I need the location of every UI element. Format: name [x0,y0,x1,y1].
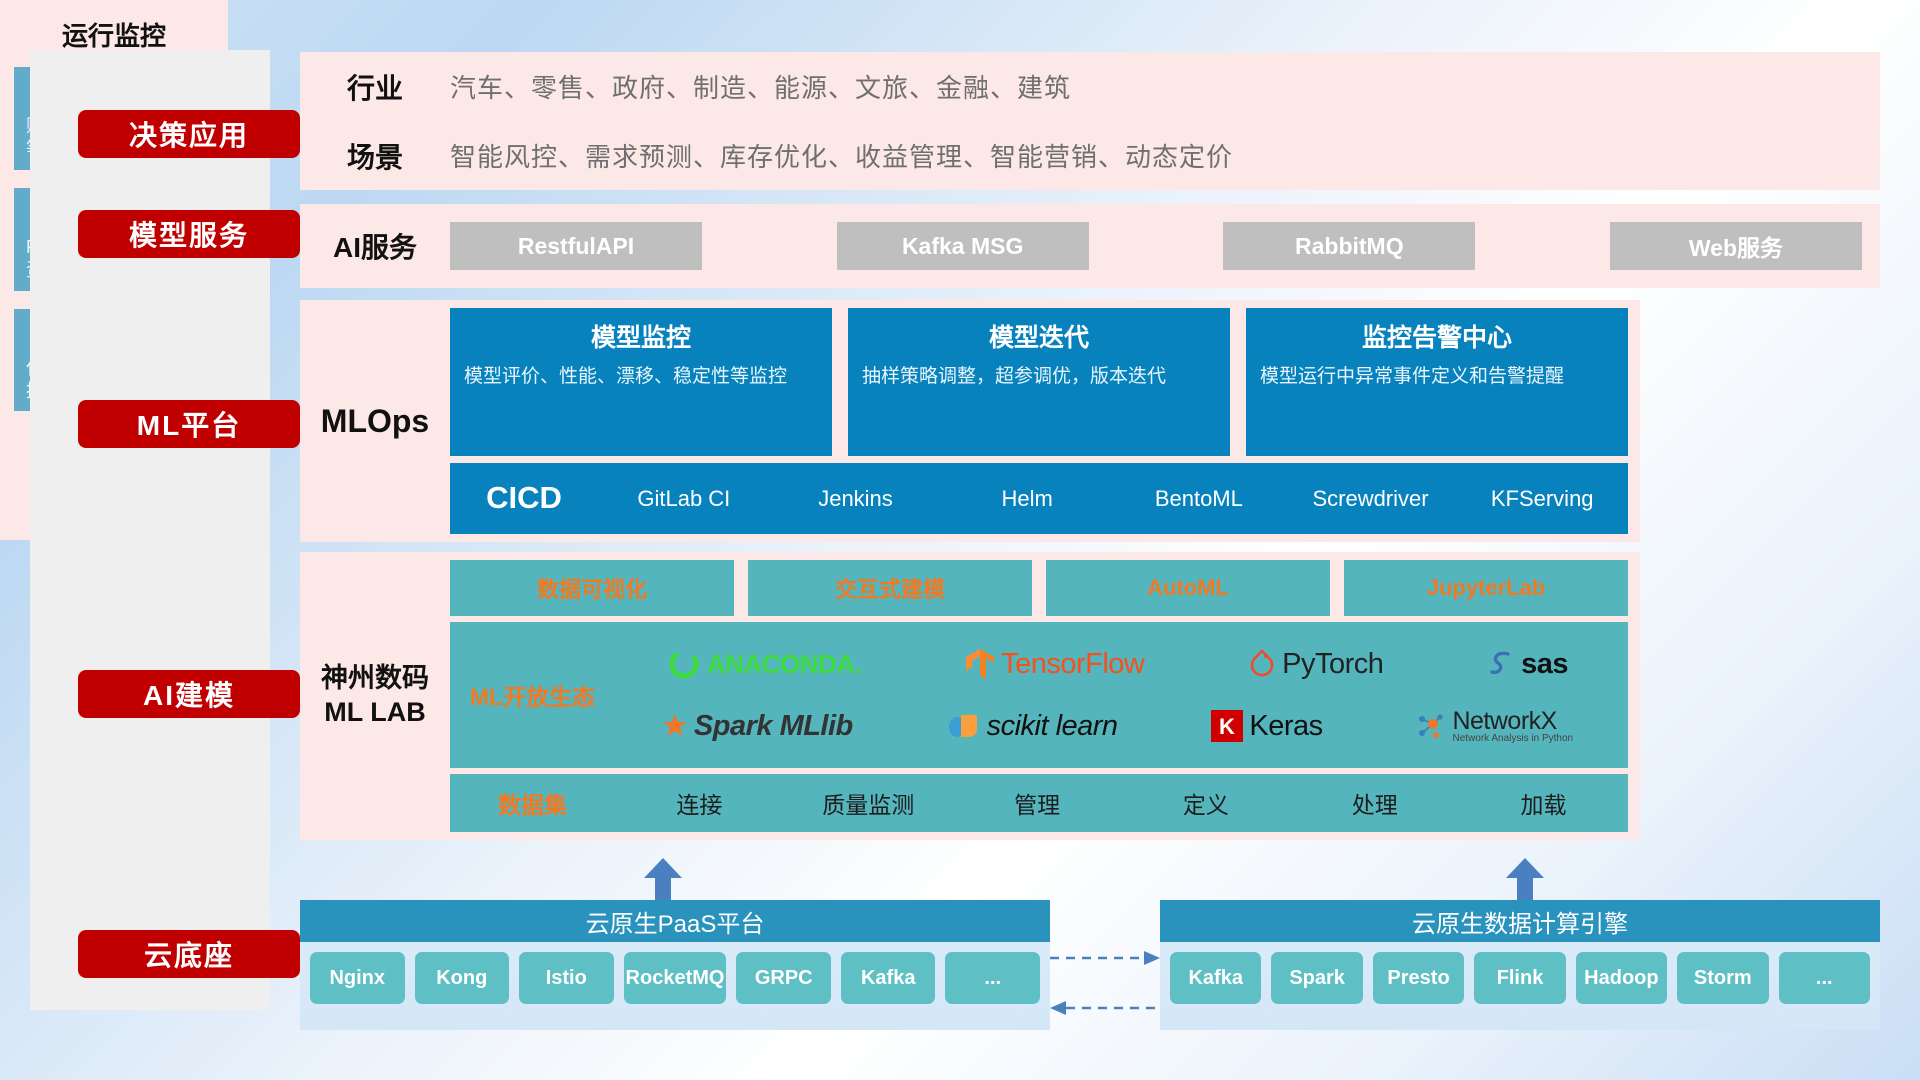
tab-interactive-modeling[interactable]: 交互式建模 [748,560,1032,616]
runtime-monitoring-title: 运行监控 [14,16,214,53]
ml-lab-key-line1: 神州数码 [321,662,429,696]
arrow-up-right [1502,856,1548,902]
networkx-logo: NetworkX Network Analysis in Python [1416,709,1573,744]
sas-icon [1487,649,1515,679]
anaconda-label: ANACONDA. [707,649,861,680]
cloud-paas-chips: Nginx Kong Istio RocketMQ GRPC Kafka ... [300,942,1050,1014]
cloud-chip-kong[interactable]: Kong [415,952,510,1004]
left-rail: 决策应用 模型服务 ML平台 AI建模 云底座 [30,50,270,1010]
mlops-key: MLOps [300,300,450,542]
scenario-key: 场景 [300,136,450,176]
rail-tag-decision-app[interactable]: 决策应用 [78,110,300,158]
cloud-chip-grpc[interactable]: GRPC [736,952,831,1004]
ml-open-ecosystem: ML开放生态 ANACONDA. [450,622,1628,768]
rail-tag-label: 云底座 [144,934,234,974]
arrow-dashed-right [1050,950,1160,971]
mlops-card-desc: 抽样策略调整，超参调优，版本迭代 [862,364,1216,390]
rail-tag-label: 模型服务 [129,214,249,254]
rail-tag-ai-modeling[interactable]: AI建模 [78,670,300,718]
cloud-chip-kafka[interactable]: Kafka [841,952,936,1004]
networkx-sublabel: Network Analysis in Python [1452,734,1573,744]
rail-tag-label: AI建模 [143,674,235,714]
ml-lab-content: 数据可视化 交互式建模 AutoML JupyterLab ML开放生态 ANA… [450,552,1640,840]
dataset-item-define[interactable]: 定义 [1121,786,1290,820]
ai-service-band: AI服务 RestfulAPI Kafka MSG RabbitMQ Web服务 [300,204,1880,288]
ml-open-ecosystem-label: ML开放生态 [450,678,615,712]
mlops-card-alert-center[interactable]: 监控告警中心 模型运行中异常事件定义和告警提醒 [1246,308,1628,456]
cloud-chip-more[interactable]: ... [945,952,1040,1004]
compute-chip-hadoop[interactable]: Hadoop [1576,952,1667,1004]
rail-tag-ml-platform[interactable]: ML平台 [78,400,300,448]
cicd-item-screwdriver[interactable]: Screwdriver [1285,485,1457,513]
industry-scenario-band: 行业 汽车、零售、政府、制造、能源、文旅、金融、建筑 场景 智能风控、需求预测、… [300,52,1880,190]
pytorch-logo: PyTorch [1248,648,1383,681]
dataset-item-manage[interactable]: 管理 [953,786,1122,820]
industry-value: 汽车、零售、政府、制造、能源、文旅、金融、建筑 [450,68,1071,105]
scikit-learn-logo: scikit learn [947,710,1118,743]
rail-tag-cloud-base[interactable]: 云底座 [78,930,300,978]
cloud-chip-nginx[interactable]: Nginx [310,952,405,1004]
networkx-label: NetworkX [1452,709,1573,734]
industry-key: 行业 [300,67,450,107]
ml-open-ecosystem-logos: ANACONDA. TensorFlow [615,635,1628,755]
spark-mllib-logo: Spark MLlib [662,710,853,743]
dataset-row: 数据集 连接 质量监测 管理 定义 处理 加载 [450,774,1628,832]
cloud-compute-title: 云原生数据计算引擎 [1160,900,1880,942]
arrow-up-left [640,856,686,902]
architecture-diagram: 决策应用 模型服务 ML平台 AI建模 云底座 行业 汽车、零售、政府、制造、能… [0,0,1920,1080]
pytorch-icon [1248,648,1276,680]
cicd-item-kfserving[interactable]: KFServing [1456,485,1628,513]
compute-chip-more[interactable]: ... [1779,952,1870,1004]
tab-automl[interactable]: AutoML [1046,560,1330,616]
sas-label: sas [1521,648,1568,681]
ai-service-chip-kafka-msg[interactable]: Kafka MSG [837,222,1089,270]
dataset-item-quality[interactable]: 质量监测 [784,786,953,820]
cicd-item-jenkins[interactable]: Jenkins [770,485,942,513]
ml-lab-key-line2: ML LAB [324,696,426,730]
cicd-item-bentoml[interactable]: BentoML [1113,485,1285,513]
tab-jupyterlab[interactable]: JupyterLab [1344,560,1628,616]
cloud-paas-title: 云原生PaaS平台 [300,900,1050,942]
anaconda-logo: ANACONDA. [667,647,861,681]
spark-mllib-label: Spark MLlib [694,710,853,743]
tab-data-visualization[interactable]: 数据可视化 [450,560,734,616]
mlops-cards: 模型监控 模型评价、性能、漂移、稳定性等监控 模型迭代 抽样策略调整，超参调优，… [450,308,1628,456]
ai-service-items: RestfulAPI Kafka MSG RabbitMQ Web服务 [450,222,1880,270]
mlops-card-desc: 模型评价、性能、漂移、稳定性等监控 [464,364,818,390]
scikit-learn-icon [947,711,981,741]
tensorflow-label: TensorFlow [1001,648,1144,681]
cloud-paas-panel: 云原生PaaS平台 Nginx Kong Istio RocketMQ GRPC… [300,900,1050,1030]
scenario-row: 场景 智能风控、需求预测、库存优化、收益管理、智能营销、动态定价 [300,121,1880,190]
scenario-value: 智能风控、需求预测、库存优化、收益管理、智能营销、动态定价 [450,137,1233,174]
arrow-dashed-left [1050,1000,1160,1021]
ai-service-chip-web[interactable]: Web服务 [1610,222,1862,270]
cicd-item-gitlab-ci[interactable]: GitLab CI [598,485,770,513]
ml-lab-band: 神州数码 ML LAB 数据可视化 交互式建模 AutoML JupyterLa… [300,552,1640,840]
mlops-band: MLOps 模型监控 模型评价、性能、漂移、稳定性等监控 模型迭代 抽样策略调整… [300,300,1640,542]
compute-chip-kafka[interactable]: Kafka [1170,952,1261,1004]
cloud-compute-panel: 云原生数据计算引擎 Kafka Spark Presto Flink Hadoo… [1160,900,1880,1030]
dataset-label: 数据集 [450,786,615,820]
keras-logo: K Keras [1211,710,1322,743]
mlops-card-title: 监控告警中心 [1260,318,1614,354]
logo-row-2: Spark MLlib scikit learn [615,697,1620,755]
sas-logo: sas [1487,648,1568,681]
tensorflow-icon [965,647,995,681]
spark-star-icon [662,713,688,739]
ai-service-chip-restfulapi[interactable]: RestfulAPI [450,222,702,270]
cicd-item-helm[interactable]: Helm [941,485,1113,513]
scikit-learn-label: scikit learn [987,710,1118,743]
compute-chip-spark[interactable]: Spark [1271,952,1362,1004]
industry-row: 行业 汽车、零售、政府、制造、能源、文旅、金融、建筑 [300,52,1880,121]
dataset-item-load[interactable]: 加载 [1459,786,1628,820]
svg-text:K: K [1219,714,1235,739]
mlops-card-model-monitoring[interactable]: 模型监控 模型评价、性能、漂移、稳定性等监控 [450,308,832,456]
mlops-card-title: 模型迭代 [862,318,1216,354]
cloud-chip-istio[interactable]: Istio [519,952,614,1004]
rail-tag-label: 决策应用 [129,114,249,154]
networkx-icon [1416,711,1446,741]
compute-chip-presto[interactable]: Presto [1373,952,1464,1004]
ai-service-chip-rabbitmq[interactable]: RabbitMQ [1223,222,1475,270]
keras-icon: K [1211,710,1243,742]
cicd-title: CICD [450,480,598,516]
mlops-content: 模型监控 模型评价、性能、漂移、稳定性等监控 模型迭代 抽样策略调整，超参调优，… [450,300,1640,542]
ai-service-key: AI服务 [300,226,450,266]
dataset-item-connect[interactable]: 连接 [615,786,784,820]
dataset-item-process[interactable]: 处理 [1290,786,1459,820]
anaconda-icon [667,647,701,681]
cloud-compute-chips: Kafka Spark Presto Flink Hadoop Storm ..… [1160,942,1880,1014]
cicd-bar: CICD GitLab CI Jenkins Helm BentoML Scre… [450,463,1628,534]
logo-row-1: ANACONDA. TensorFlow [615,635,1620,693]
rail-tag-model-service[interactable]: 模型服务 [78,210,300,258]
cloud-chip-rocketmq[interactable]: RocketMQ [624,952,727,1004]
mlops-card-model-iteration[interactable]: 模型迭代 抽样策略调整，超参调优，版本迭代 [848,308,1230,456]
ml-lab-key: 神州数码 ML LAB [300,552,450,840]
pytorch-label: PyTorch [1282,648,1383,681]
ml-lab-tabs: 数据可视化 交互式建模 AutoML JupyterLab [450,560,1628,616]
compute-chip-flink[interactable]: Flink [1474,952,1565,1004]
keras-label: Keras [1249,710,1322,743]
tensorflow-logo: TensorFlow [965,647,1144,681]
compute-chip-storm[interactable]: Storm [1677,952,1768,1004]
rail-tag-label: ML平台 [137,404,241,444]
mlops-card-title: 模型监控 [464,318,818,354]
mlops-card-desc: 模型运行中异常事件定义和告警提醒 [1260,364,1614,390]
